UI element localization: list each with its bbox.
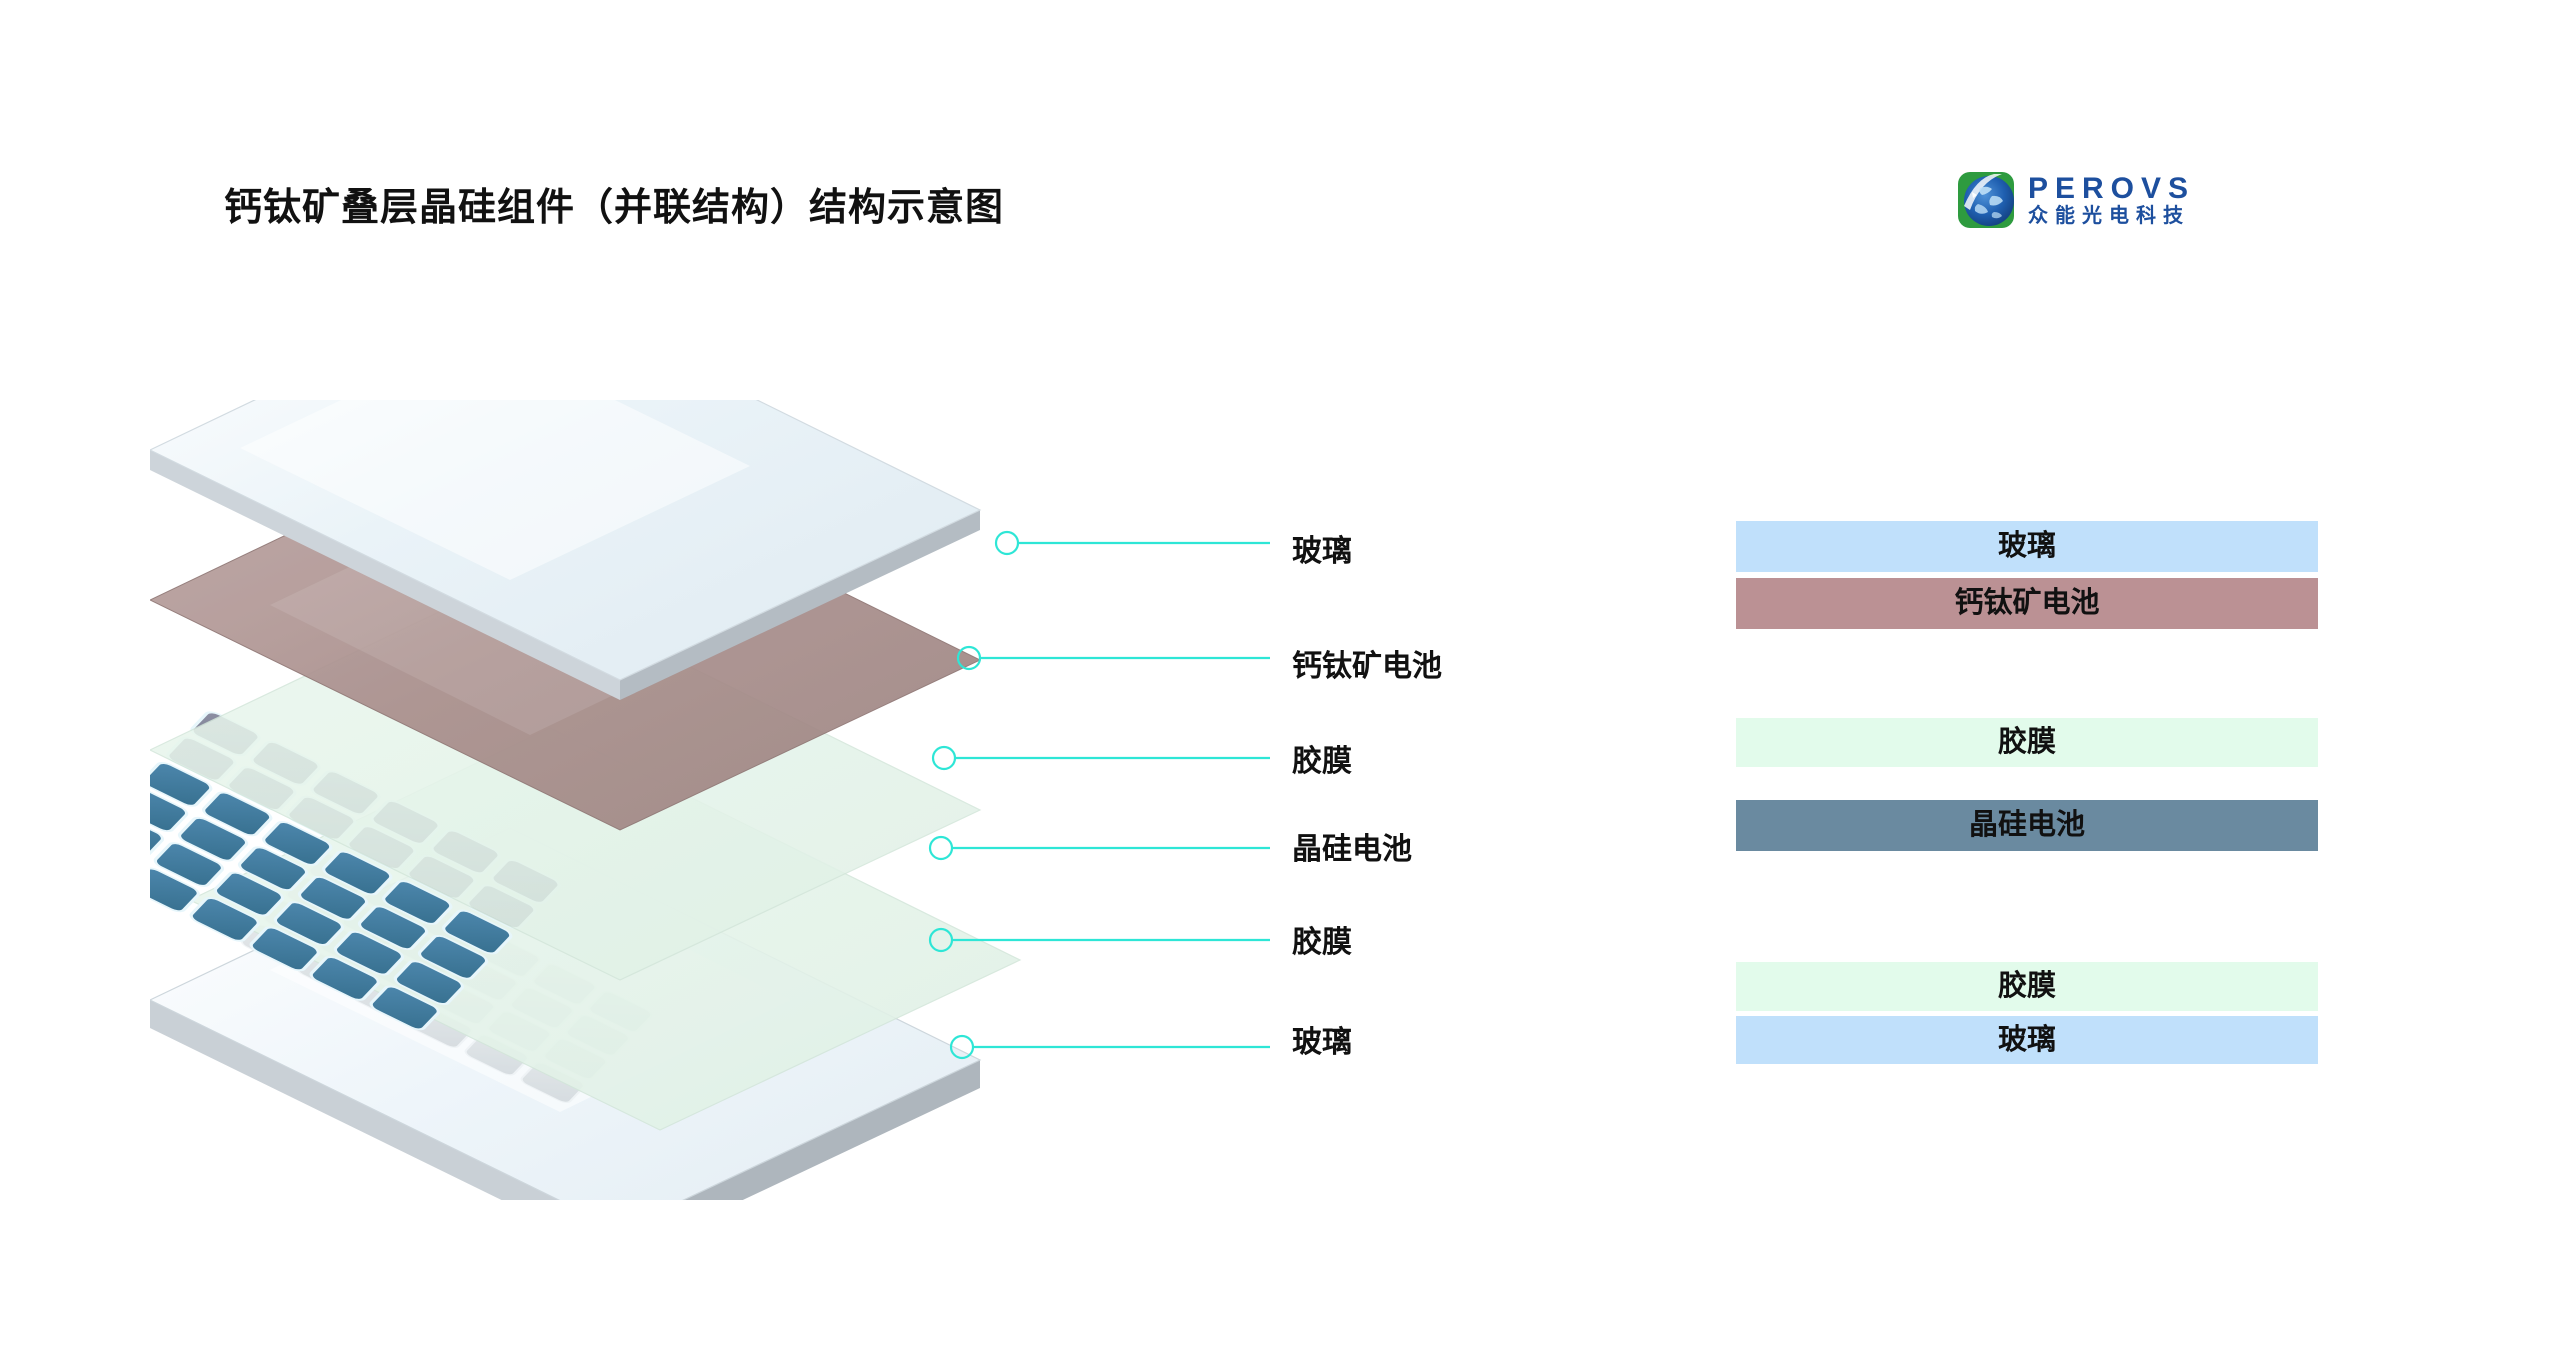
stack-bar-label-eva-bottom: 胶膜 [1998, 972, 2056, 1001]
stack-bar-eva-bottom: 胶膜 [1736, 962, 2318, 1011]
brand-text: PEROVS 众能光电科技 [2028, 174, 2195, 226]
exploded-diagram-svg [150, 400, 1270, 1200]
leader-lines [930, 532, 1270, 1058]
globe-icon [1958, 172, 2014, 228]
stack-bar-eva-top: 胶膜 [1736, 718, 2318, 767]
stack-bar-label-eva-top: 胶膜 [1998, 728, 2056, 757]
callout-label-eva-top: 胶膜 [1292, 747, 1352, 777]
leader-marker-eva-top [933, 747, 955, 769]
stack-bar-glass-top: 玻璃 [1736, 521, 2318, 572]
callout-label-silicon: 晶硅电池 [1292, 835, 1412, 865]
brand-logo: PEROVS 众能光电科技 [1958, 172, 2195, 228]
brand-name-cn: 众能光电科技 [2028, 206, 2195, 226]
stack-bar-glass-bottom: 玻璃 [1736, 1016, 2318, 1064]
callout-label-glass-top: 玻璃 [1292, 537, 1352, 567]
callout-label-glass-bottom: 玻璃 [1292, 1028, 1352, 1058]
callout-label-perovskite: 钙钛矿电池 [1292, 652, 1442, 682]
stack-bar-label-glass-bottom: 玻璃 [1998, 1026, 2056, 1055]
stack-legend: 玻璃 钙钛矿电池 胶膜 晶硅电池 胶膜 玻璃 [1736, 521, 2318, 1066]
brand-name-en: PEROVS [2028, 174, 2195, 204]
stack-bar-label-silicon: 晶硅电池 [1969, 811, 2085, 840]
leader-marker-glass-top [996, 532, 1018, 554]
leader-marker-silicon [930, 837, 952, 859]
callout-label-eva-bottom: 胶膜 [1292, 928, 1352, 958]
stack-bar-label-glass-top: 玻璃 [1998, 532, 2056, 561]
stack-bar-label-perovskite: 钙钛矿电池 [1954, 589, 2099, 618]
stack-bar-silicon: 晶硅电池 [1736, 800, 2318, 851]
page-title: 钙钛矿叠层晶硅组件（并联结构）结构示意图 [224, 176, 1004, 231]
stack-bar-perovskite: 钙钛矿电池 [1736, 578, 2318, 629]
exploded-layer-diagram [150, 400, 1270, 1200]
